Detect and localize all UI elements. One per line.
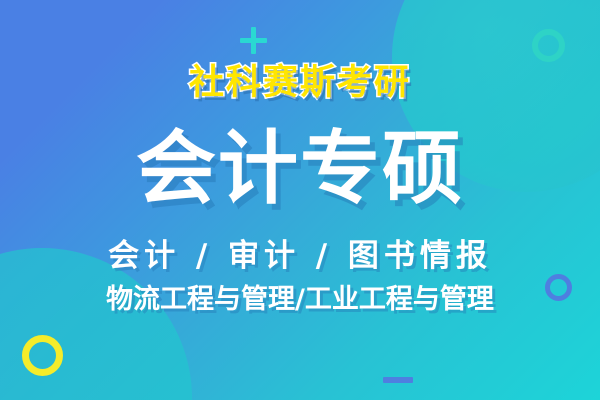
subtitle-engineering-line: 物流工程与管理/工业工程与管理 [106, 286, 494, 313]
promo-banner: 社科赛斯考研 会计专硕 会计 / 审计 / 图书情报 物流工程与管理/工业工程与… [0, 0, 600, 400]
banner-content: 社科赛斯考研 会计专硕 会计 / 审计 / 图书情报 物流工程与管理/工业工程与… [0, 0, 600, 400]
brand-title: 社科赛斯考研 [189, 66, 411, 101]
subtitle-majors-line: 会计 / 审计 / 图书情报 [108, 241, 492, 272]
page-title: 会计专硕 [136, 129, 464, 209]
